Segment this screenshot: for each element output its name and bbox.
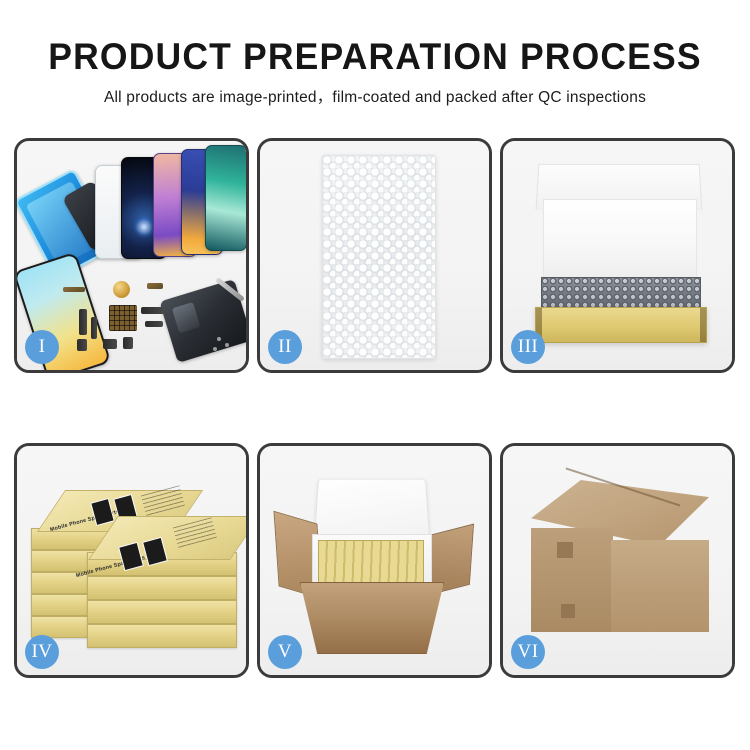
panel-5-step-badge: V [268,635,302,669]
packed-yellow-boxes-image [318,540,424,584]
page-subtitle: All products are image-printed，film-coat… [0,88,750,108]
carton-tape-tab-image [557,542,573,558]
process-panel-3[interactable]: III [500,138,735,373]
bubble-wrap-image [322,155,436,359]
panel-6-step-badge: VI [511,635,545,669]
process-panel-grid: I II III [14,138,736,678]
stacked-box [87,624,237,648]
process-panel-6[interactable]: VI [500,443,735,678]
small-part-image [103,339,117,349]
panel-3-step-badge: III [511,330,545,364]
ic-chip-part-image [109,305,137,331]
carton-right-face-image [611,540,709,632]
printed-box-top [88,516,249,560]
box-stack-image: Mobile Phone Spare Parts Mobile Phone Sp… [31,476,237,652]
foam-lid-image [314,479,430,540]
process-panel-4[interactable]: Mobile Phone Spare Parts Mobile Phone Sp… [14,443,249,678]
connector-part-image [147,283,163,289]
stacked-box [87,576,237,600]
flex-cable-image [79,309,87,335]
foam-sheet-image [543,199,697,281]
panel-2-step-badge: II [268,330,302,364]
screw-image [217,337,221,341]
flex-cable-image [141,307,165,314]
panel-1-step-badge: I [25,330,59,364]
flex-cable-image [145,321,163,327]
small-part-image [77,339,87,351]
carton-tape-tab-image [561,604,575,618]
screw-image [225,343,229,347]
panel-4-step-badge: IV [25,635,59,669]
page-header: PRODUCT PREPARATION PROCESS All products… [0,0,750,108]
process-panel-5[interactable]: V [257,443,492,678]
process-panel-2[interactable]: II [257,138,492,373]
bubble-wrap-layer-image [541,277,701,311]
flex-cable-image [91,317,97,339]
yellow-box-front-image [535,307,707,343]
carton-body-image [300,582,444,654]
teal-phone-image [205,145,247,251]
screw-image [213,347,217,351]
chip-part-image [63,287,85,292]
process-panel-1[interactable]: I [14,138,249,373]
page-title: PRODUCT PREPARATION PROCESS [15,36,735,78]
stacked-box [87,600,237,624]
small-part-image [123,337,133,349]
copper-disc-part-image [113,281,130,298]
